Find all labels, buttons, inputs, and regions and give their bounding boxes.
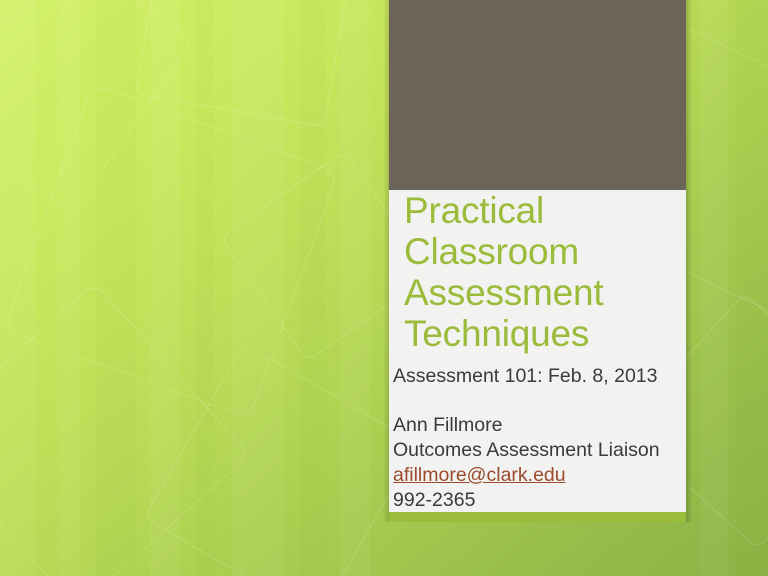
- presenter-role: Outcomes Assessment Liaison: [393, 438, 679, 463]
- slide-subtitle-block: Assessment 101: Feb. 8, 2013 Ann Fillmor…: [393, 364, 679, 513]
- photo-placeholder: [389, 0, 686, 190]
- title-line-1: Practical: [404, 190, 680, 231]
- title-line-3: Assessment: [404, 272, 680, 313]
- presenter-phone: 992-2365: [393, 488, 679, 513]
- presentation-slide: Practical Classroom Assessment Technique…: [0, 0, 768, 576]
- subtitle-course-date: Assessment 101: Feb. 8, 2013: [393, 364, 679, 389]
- slide-title: Practical Classroom Assessment Technique…: [404, 190, 680, 354]
- card-accent-bar: [389, 512, 686, 522]
- presenter-name: Ann Fillmore: [393, 413, 679, 438]
- subtitle-spacer: [393, 389, 679, 413]
- title-line-4: Techniques: [404, 313, 680, 354]
- title-line-2: Classroom: [404, 231, 680, 272]
- card-right-shadow: [686, 0, 692, 522]
- presenter-email-link[interactable]: afillmore@clark.edu: [393, 463, 679, 488]
